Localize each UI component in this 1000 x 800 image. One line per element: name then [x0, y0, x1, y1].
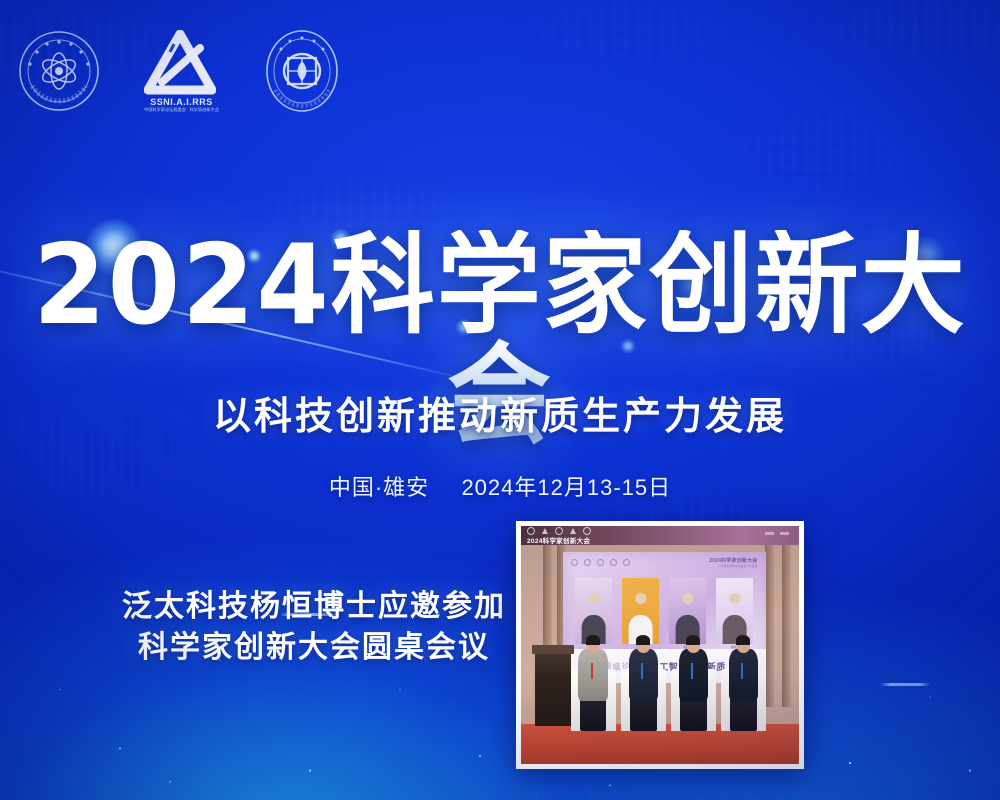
event-meta-line: 中国·雄安 2024年12月13-15日	[0, 470, 1000, 502]
panelist-legs	[630, 697, 656, 731]
portrait-head	[682, 593, 693, 604]
panelist-badge	[591, 663, 593, 679]
panelist-badge	[691, 663, 693, 679]
banner-icon-circle-1	[527, 527, 535, 535]
oval-academy-seal-logo	[263, 28, 341, 114]
organizer-logo-row: SSNI.A.I.RRS 中国科学家论坛组委会 · 科学家创新大会	[18, 28, 341, 114]
poster-subtitle: 以科技创新推动新质生产力发展	[0, 385, 1000, 440]
photo-stage-banner: 2024科学家创新大会	[521, 526, 799, 545]
panelist-badge	[641, 663, 643, 679]
triangle-logo-tagline: 中国科学家论坛组委会 · 科学家创新大会	[144, 108, 219, 112]
panelist-torso	[729, 649, 759, 701]
portrait-head	[588, 593, 599, 604]
screen-header: 2024科学家创新大会 以科技创新推动新质生产力发展	[709, 557, 757, 568]
panelist-torso	[629, 649, 659, 701]
caption-line-1: 泛太科技杨恒博士应邀参加	[118, 586, 510, 627]
conference-poster: SSNI.A.I.RRS 中国科学家论坛组委会 · 科学家创新大会 202	[0, 0, 1000, 800]
panelist-hair	[736, 635, 750, 645]
screen-icon-2	[584, 559, 591, 566]
screen-icon-1	[571, 559, 578, 566]
triangle-association-logo: SSNI.A.I.RRS 中国科学家论坛组委会 · 科学家创新大会	[144, 30, 219, 113]
banner-icon-circle-3	[583, 527, 591, 535]
photo-wall-panel-right	[765, 526, 774, 707]
photo-wall-panel-right2	[782, 526, 791, 707]
screen-header-sub: 以科技创新推动新质生产力发展	[709, 564, 757, 568]
panelist-badge	[741, 663, 743, 679]
portrait-head	[729, 593, 740, 604]
caption-block: 泛太科技杨恒博士应邀参加 科学家创新大会圆桌会议	[118, 586, 510, 669]
photo-banner-marks	[765, 532, 789, 535]
photo-banner-icons	[527, 527, 591, 535]
screen-icon-5	[623, 559, 630, 566]
panelist-hair	[586, 635, 600, 645]
panelist-torso	[679, 649, 709, 701]
photo-panelist-1	[574, 631, 613, 731]
panelist-hair	[636, 635, 650, 645]
photo-panelist-4	[724, 631, 763, 731]
banner-icon-circle-2	[555, 527, 563, 535]
event-photo: 2024科学家创新大会 2024科学家创新大会 以科技创新推动新质生产力发展	[521, 526, 799, 764]
panelist-torso	[578, 649, 608, 701]
event-date: 2024年12月13-15日	[461, 475, 671, 500]
triangle-logo-wordmark: SSNI.A.I.RRS 中国科学家论坛组委会 · 科学家创新大会	[144, 98, 219, 113]
banner-mark-1	[765, 532, 774, 535]
caption-line-2: 科学家创新大会圆桌会议	[118, 627, 510, 668]
circular-institute-seal-logo	[18, 30, 100, 112]
banner-icon-triangle-2	[570, 528, 576, 534]
screen-icon-4	[610, 559, 617, 566]
screen-logo-icons	[571, 559, 630, 566]
panelist-legs	[730, 697, 756, 731]
portrait-head	[635, 593, 646, 604]
event-photo-frame: 2024科学家创新大会 2024科学家创新大会 以科技创新推动新质生产力发展	[516, 521, 804, 769]
panelist-legs	[580, 697, 606, 731]
event-location: 中国·雄安	[329, 475, 429, 500]
banner-icon-triangle-1	[542, 528, 548, 534]
photo-panelist-2	[624, 631, 663, 731]
screen-icon-3	[597, 559, 604, 566]
photo-panelist-3	[674, 631, 713, 731]
photo-podium	[535, 650, 571, 726]
photo-stage-banner-text: 2024科学家创新大会	[527, 535, 590, 545]
panelist-legs	[680, 697, 706, 731]
panelist-hair	[686, 635, 700, 645]
banner-mark-2	[780, 532, 789, 535]
triangle-logo-wordmark-text: SSNI.A.I.RRS	[150, 97, 213, 107]
